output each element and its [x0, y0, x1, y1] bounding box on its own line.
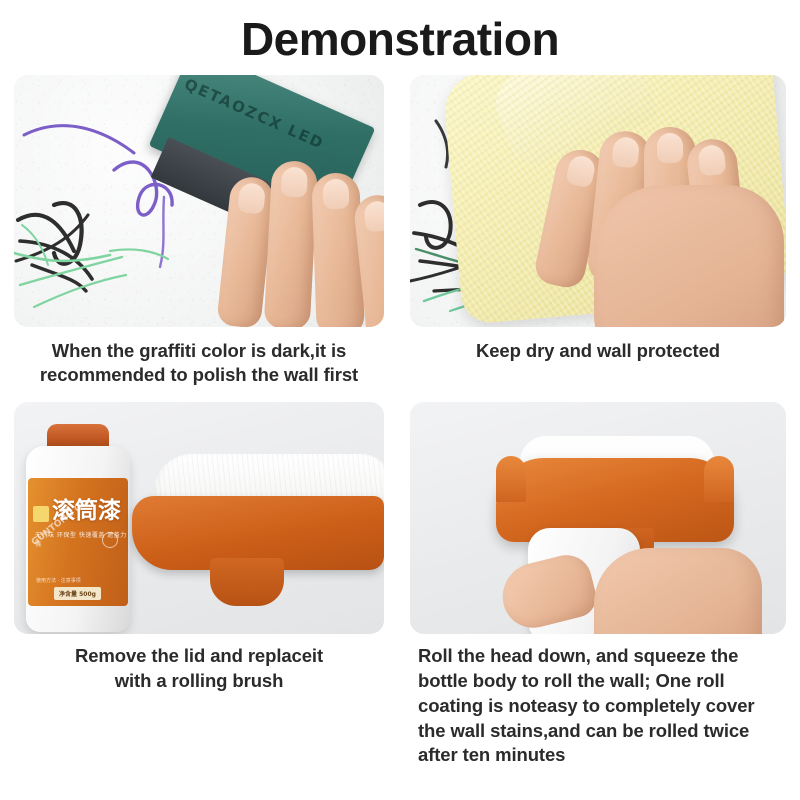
panel-polish: QETAOZCX LED When the graffiti color is — [14, 75, 384, 389]
fingernail — [322, 178, 349, 209]
caption-line: after ten minutes — [418, 743, 782, 768]
panel-replace-lid: 滚筒漆 无气味 环保型 快速覆盖 遮盖力强 GUNTONG QI 使用方法 · … — [14, 402, 384, 768]
roller-notch-right — [704, 456, 734, 502]
page-title: Demonstration — [0, 0, 800, 75]
panel-roll-wall: Roll the head down, and squeeze the bott… — [410, 402, 786, 768]
panel-roll-wall-caption: Roll the head down, and squeeze the bott… — [410, 634, 786, 768]
hand-holding-sponge — [218, 137, 384, 327]
fingernail — [363, 200, 384, 233]
bottle-body: 滚筒漆 无气味 环保型 快速覆盖 遮盖力强 GUNTONG QI 使用方法 · … — [26, 446, 130, 632]
fingernail — [697, 144, 726, 177]
caption-line: bottle body to roll the wall; One roll — [418, 669, 782, 694]
fingernail — [565, 153, 597, 188]
caption-line: coating is noteasy to completely cover — [418, 694, 782, 719]
panel-wipe: Keep dry and wall protected — [410, 75, 786, 389]
fingernail — [611, 136, 640, 169]
caption-line: the wall stains,and can be rolled twice — [418, 719, 782, 744]
roller-brush-head — [132, 454, 384, 614]
panel-replace-lid-caption: Remove the lid and replaceit with a roll… — [14, 634, 384, 694]
bottle-label: 滚筒漆 无气味 环保型 快速覆盖 遮盖力强 GUNTONG QI 使用方法 · … — [28, 478, 128, 606]
palm — [594, 185, 784, 327]
hand-squeezing-bottle — [502, 536, 762, 634]
fingernail — [237, 182, 266, 215]
demonstration-grid: QETAOZCX LED When the graffiti color is — [0, 75, 800, 768]
roller-stem — [210, 558, 284, 606]
caption-line: with a rolling brush — [18, 669, 380, 694]
palm — [594, 548, 762, 634]
panel-polish-caption: When the graffiti color is dark,it is re… — [14, 327, 384, 389]
thumb — [496, 550, 601, 634]
panel-polish-photo: QETAOZCX LED — [14, 75, 384, 327]
hand-wiping-wall — [542, 115, 786, 327]
panel-wipe-caption: Keep dry and wall protected — [410, 327, 786, 364]
fingernail — [281, 166, 309, 197]
caption-line: When the graffiti color is dark,it is — [18, 339, 380, 364]
caption-line: Remove the lid and replaceit — [18, 644, 380, 669]
paint-bottle: 滚筒漆 无气味 环保型 快速覆盖 遮盖力强 GUNTONG QI 使用方法 · … — [26, 424, 130, 632]
label-badge-icon — [33, 506, 49, 522]
fingernail — [657, 133, 683, 163]
panel-wipe-photo — [410, 75, 786, 327]
label-weight: 净含量 500g — [54, 587, 101, 600]
caption-line: Roll the head down, and squeeze the — [418, 644, 782, 669]
finger — [264, 160, 319, 327]
caption-line: Keep dry and wall protected — [414, 339, 782, 364]
caption-line: recommended to polish the wall first — [18, 363, 380, 388]
label-footnote: 使用方法 · 注意事项 — [36, 577, 81, 584]
panel-roll-wall-photo — [410, 402, 786, 634]
roller-notch-left — [496, 456, 526, 502]
panel-replace-lid-photo: 滚筒漆 无气味 环保型 快速覆盖 遮盖力强 GUNTONG QI 使用方法 · … — [14, 402, 384, 634]
finger — [311, 172, 365, 327]
